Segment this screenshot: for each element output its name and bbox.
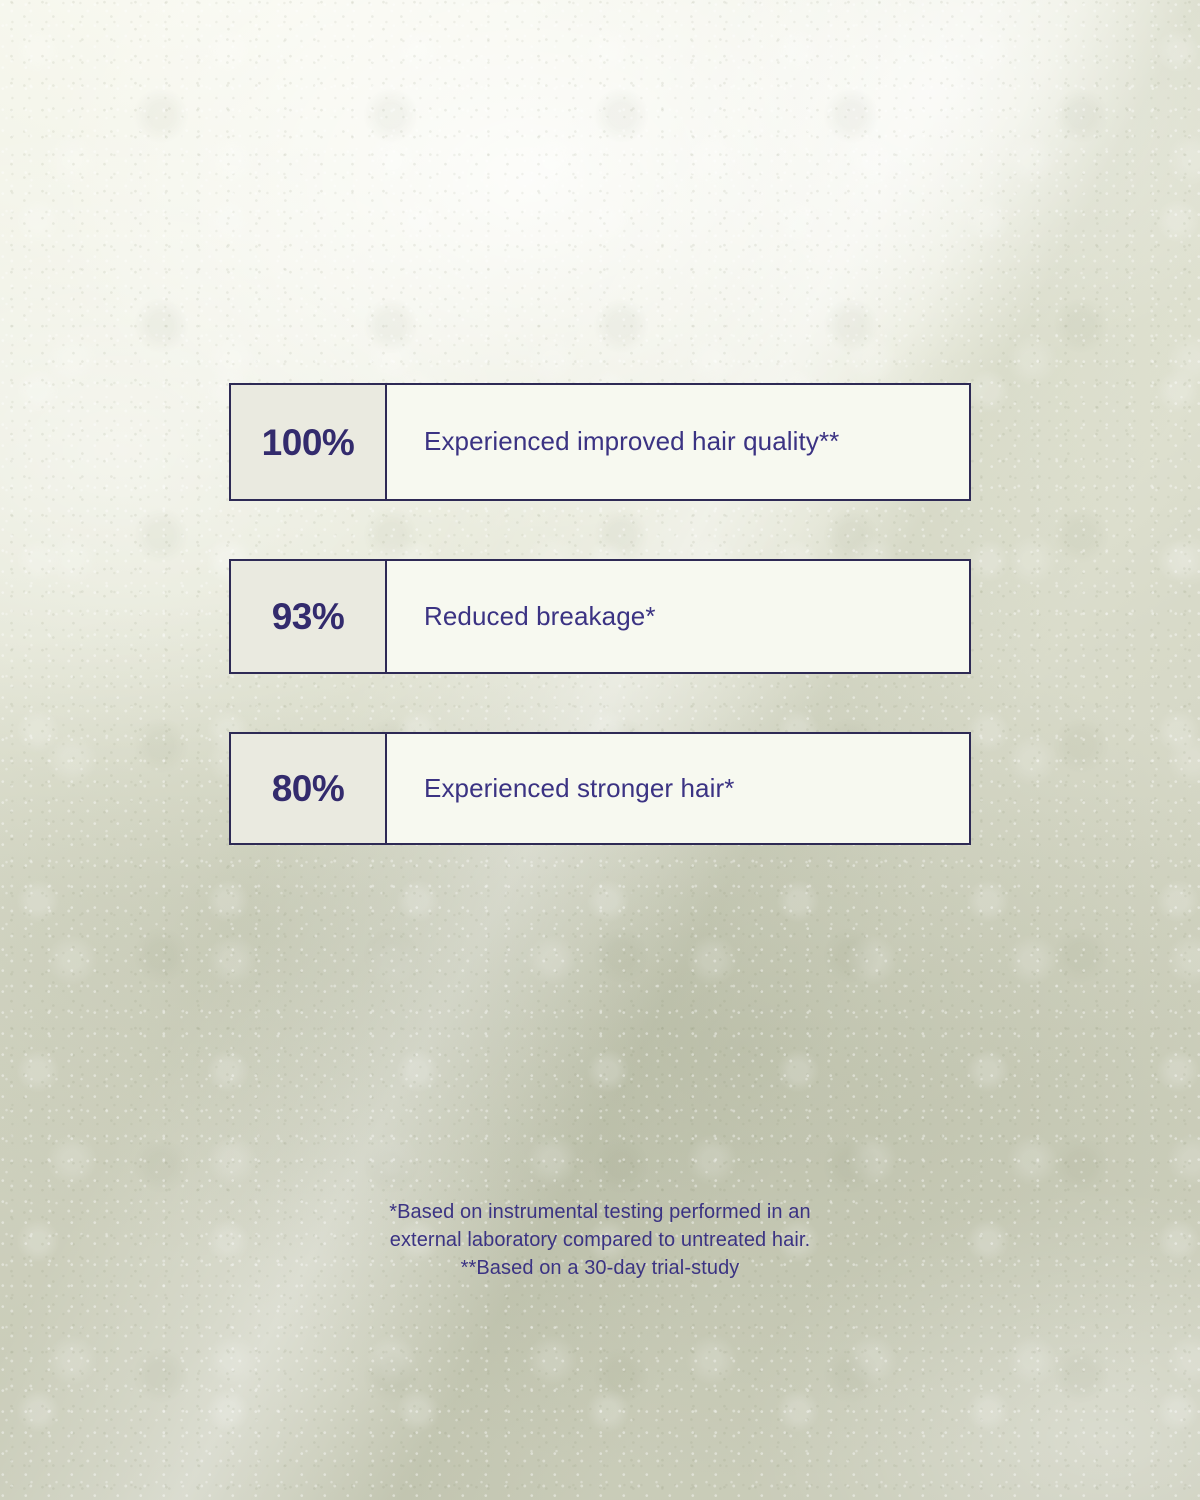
stat-label-cell: Experienced improved hair quality** (387, 385, 969, 499)
stat-value: 100% (262, 424, 355, 461)
stat-row: 100% Experienced improved hair quality** (229, 383, 971, 501)
stat-label: Experienced improved hair quality** (424, 426, 839, 457)
stat-value: 80% (272, 770, 345, 807)
footnote-line-2: external laboratory compared to untreate… (0, 1226, 1200, 1254)
footnote-line-1: *Based on instrumental testing performed… (0, 1198, 1200, 1226)
stat-label-cell: Experienced stronger hair* (387, 734, 969, 843)
stat-value: 93% (272, 598, 345, 635)
stat-row: 93% Reduced breakage* (229, 559, 971, 674)
stat-label-cell: Reduced breakage* (387, 561, 969, 672)
stat-row: 80% Experienced stronger hair* (229, 732, 971, 845)
footnote: *Based on instrumental testing performed… (0, 1198, 1200, 1282)
stat-value-cell: 93% (231, 561, 387, 672)
promo-stat-panel: 100% Experienced improved hair quality**… (0, 0, 1200, 1500)
stat-value-cell: 80% (231, 734, 387, 843)
stat-label: Reduced breakage* (424, 601, 656, 632)
footnote-line-3: **Based on a 30-day trial-study (0, 1254, 1200, 1282)
stat-label: Experienced stronger hair* (424, 773, 734, 804)
stat-list: 100% Experienced improved hair quality**… (229, 383, 971, 845)
stat-value-cell: 100% (231, 385, 387, 499)
